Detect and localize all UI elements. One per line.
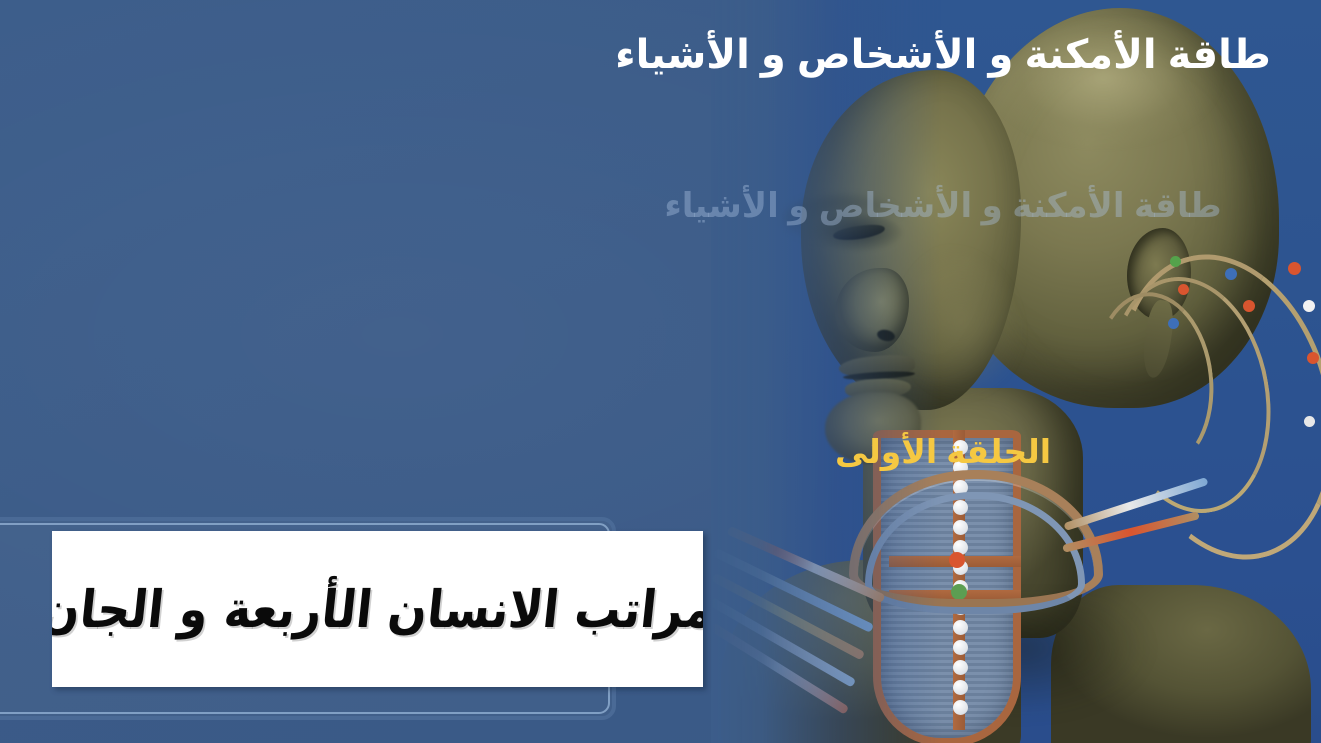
bead-accent [1225, 268, 1237, 280]
bead-accent [1288, 262, 1301, 275]
slide-canvas: طاقة الأمكنة و الأشخاص و الأشياء طاقة ال… [0, 0, 1321, 743]
pendant-bead [953, 700, 968, 715]
episode-label: الحلقة الأولى [583, 432, 1303, 471]
photo-edge-blend [711, 0, 941, 743]
bead-accent [1178, 284, 1189, 295]
bead-accent [1168, 318, 1179, 329]
pendant-bead [953, 620, 968, 635]
page-title: طاقة الأمكنة و الأشخاص و الأشياء [583, 26, 1303, 84]
pendant-bead [953, 680, 968, 695]
bead-accent [1243, 300, 1255, 312]
caption-box: مراتب الانسان الأربعة و الجان [52, 531, 703, 687]
page-title-echo: طاقة الأمكنة و الأشخاص و الأشياء [583, 182, 1303, 231]
pendant-bead [953, 640, 968, 655]
bead-accent [1170, 256, 1181, 267]
pendant-bead [953, 660, 968, 675]
portrait-photo [711, 0, 1321, 743]
bead-accent [1307, 352, 1319, 364]
caption-text: مراتب الانسان الأربعة و الجان [52, 579, 703, 639]
bead-accent [1304, 416, 1315, 427]
bead-accent [1303, 300, 1315, 312]
